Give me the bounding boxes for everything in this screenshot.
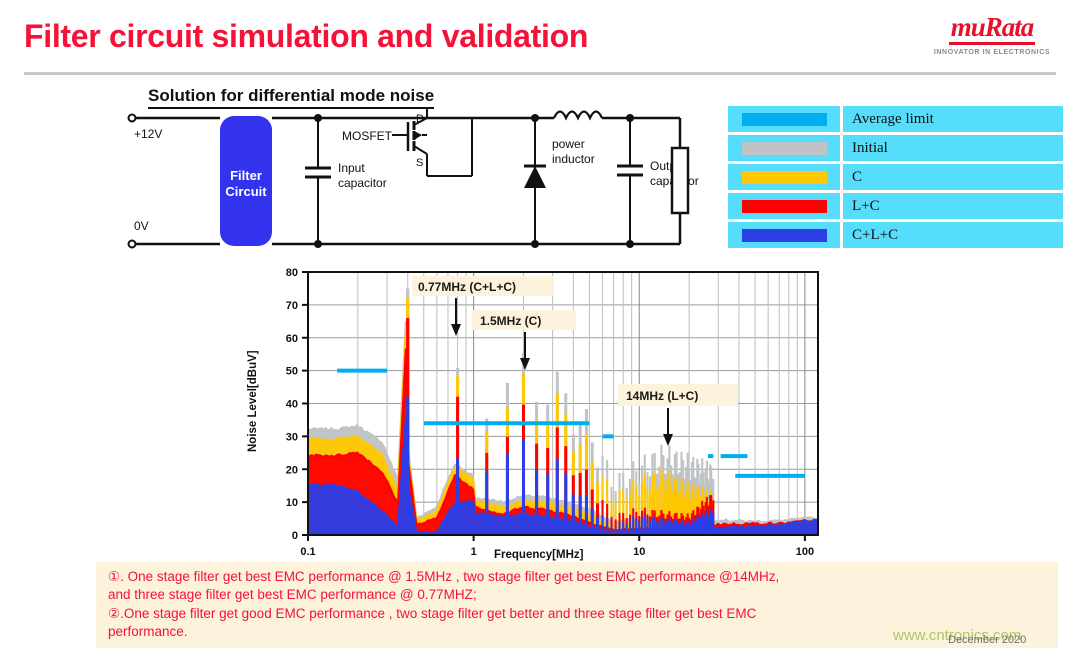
conclusion-line-3: ②.One stage filter get good EMC performa…	[108, 605, 1048, 623]
label-input-capacitor-line1: Input	[338, 161, 365, 175]
annotation-077mhz: 0.77MHz (C+L+C)	[412, 276, 554, 296]
svg-text:80: 80	[286, 267, 298, 279]
svg-text:20: 20	[286, 464, 298, 476]
legend-row: C	[728, 164, 1063, 190]
annotation-14mhz-label: 14MHz (L+C)	[626, 389, 698, 403]
circuit-section-heading: Solution for differential mode noise	[148, 86, 434, 109]
legend-swatch-cell	[728, 222, 843, 248]
label-mosfet: MOSFET	[342, 129, 393, 143]
svg-text:0: 0	[292, 530, 298, 542]
x-axis-title: Frequency[MHz]	[494, 549, 584, 561]
legend-row: C+L+C	[728, 222, 1063, 248]
label-supply-positive: +12V	[134, 127, 162, 141]
label-power-inductor-line2: inductor	[552, 152, 595, 166]
circuit-diagram: Filter Circuit +12V 0V Input capacitor M…	[120, 108, 720, 258]
node-dot-icon	[626, 240, 634, 248]
label-mosfet-drain: D	[416, 113, 424, 125]
legend-swatch-lc	[742, 200, 827, 213]
legend-row: L+C	[728, 193, 1063, 219]
svg-text:10: 10	[286, 497, 298, 509]
label-supply-ground: 0V	[134, 219, 149, 233]
svg-text:50: 50	[286, 366, 298, 378]
legend-label-clc: C+L+C	[843, 227, 898, 244]
node-dot-icon	[314, 114, 322, 122]
svg-text:0.1: 0.1	[300, 546, 315, 558]
svg-text:100: 100	[796, 546, 814, 558]
legend-swatch-cell	[728, 135, 843, 161]
filter-block-label-line2: Circuit	[225, 184, 267, 199]
terminal-ground-icon	[129, 241, 136, 248]
annotation-15mhz-label: 1.5MHz (C)	[480, 314, 541, 328]
annotation-15mhz: 1.5MHz (C)	[472, 310, 576, 330]
brand-tagline: INNOVATOR IN ELECTRONICS	[922, 49, 1062, 56]
brand-wordmark: muRata	[949, 14, 1036, 45]
annotation-077mhz-label: 0.77MHz (C+L+C)	[418, 280, 516, 294]
label-input-capacitor-line2: capacitor	[338, 176, 387, 190]
svg-text:70: 70	[286, 300, 298, 312]
terminal-positive-icon	[129, 115, 136, 122]
conclusion-line-1: ①. One stage filter get best EMC perform…	[108, 568, 1048, 586]
label-power-inductor-line1: power	[552, 137, 585, 151]
svg-text:10: 10	[633, 546, 645, 558]
svg-text:40: 40	[286, 399, 298, 411]
legend-swatch-cell	[728, 193, 843, 219]
node-dot-icon	[531, 114, 539, 122]
load-resistor-icon	[672, 148, 688, 213]
legend-swatch-initial	[742, 142, 827, 155]
chart-legend: Average limit Initial C L+C C+L+C	[728, 106, 1063, 248]
label-mosfet-source: S	[416, 157, 423, 169]
legend-swatch-clc	[742, 229, 827, 242]
murata-logo: muRata INNOVATOR IN ELECTRONICS	[922, 14, 1062, 56]
legend-label-lc: L+C	[843, 198, 880, 215]
legend-row: Initial	[728, 135, 1063, 161]
legend-swatch-c	[742, 171, 827, 184]
filter-block-label-line1: Filter	[230, 168, 262, 183]
annotation-14mhz: 14MHz (L+C)	[618, 384, 738, 406]
legend-row: Average limit	[728, 106, 1063, 132]
legend-swatch-cell	[728, 164, 843, 190]
y-axis-tick-labels: 01020304050607080	[286, 267, 298, 542]
conclusion-line-2: and three stage filter get best EMC perf…	[108, 586, 1048, 604]
svg-text:30: 30	[286, 431, 298, 443]
legend-label-average-limit: Average limit	[843, 111, 934, 128]
legend-swatch-cell	[728, 106, 843, 132]
node-dot-icon	[314, 240, 322, 248]
diode-icon	[524, 166, 546, 188]
svg-text:1: 1	[471, 546, 477, 558]
page-title: Filter circuit simulation and validation	[24, 18, 588, 55]
noise-spectrum-chart: Noise Level[dBuV] 01020304050607080 0.11…	[244, 262, 834, 562]
slide-date: December 2020	[948, 634, 1026, 646]
legend-label-initial: Initial	[843, 140, 888, 157]
y-axis-title: Noise Level[dBuV]	[247, 350, 259, 452]
svg-text:60: 60	[286, 333, 298, 345]
legend-label-c: C	[843, 169, 862, 186]
node-dot-icon	[531, 240, 539, 248]
legend-swatch-average-limit	[742, 113, 827, 126]
node-dot-icon	[626, 114, 634, 122]
header-divider	[24, 72, 1056, 75]
